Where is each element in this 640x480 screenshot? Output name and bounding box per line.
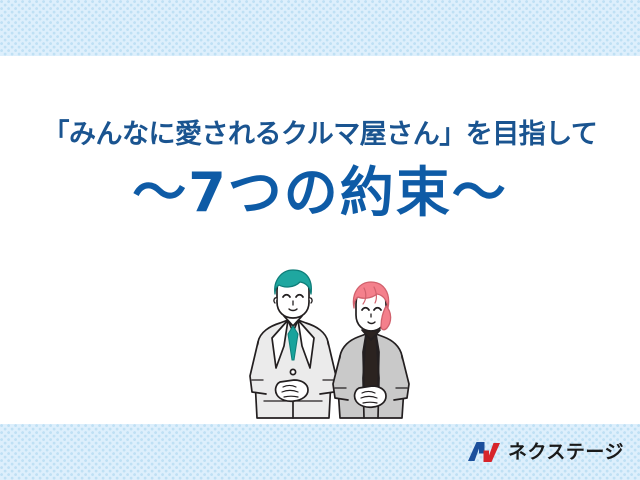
male-staff-figure — [250, 270, 336, 418]
nextage-n-mark — [467, 440, 501, 464]
female-staff-figure — [333, 282, 409, 418]
brand-logo-text: ネクステージ — [508, 443, 624, 462]
headline-line-1: 「みんなに愛されるクルマ屋さん」を目指して — [0, 118, 640, 152]
staff-illustration — [236, 268, 416, 428]
top-dot-band — [0, 0, 640, 56]
headline-block: 「みんなに愛されるクルマ屋さん」を目指して 〜7つの約束〜 — [0, 118, 640, 224]
brand-logo: ネクステージ — [467, 438, 624, 466]
promo-banner: 「みんなに愛されるクルマ屋さん」を目指して 〜7つの約束〜 — [0, 0, 640, 480]
headline-line-2: 〜7つの約束〜 — [0, 162, 640, 224]
